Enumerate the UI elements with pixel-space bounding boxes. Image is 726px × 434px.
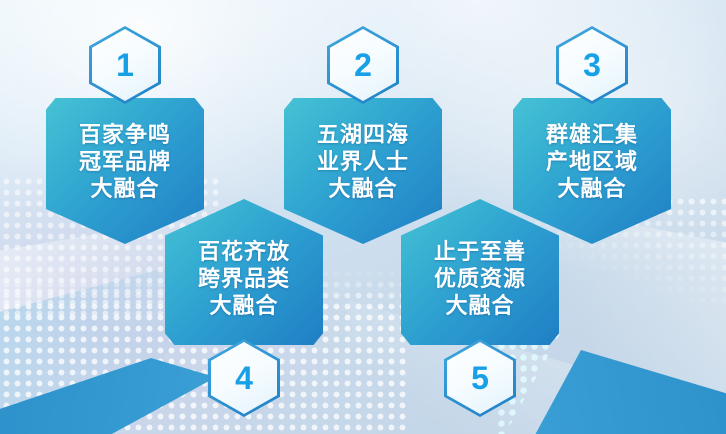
infographic-canvas: 百家争鸣 冠军品牌 大融合 1 五湖四海 业界人士 大融合 2 群雄汇集 产地区… [0, 0, 726, 434]
hex-badge-2[interactable]: 2 [327, 26, 399, 104]
hex-node-1[interactable]: 百家争鸣 冠军品牌 大融合 1 [46, 14, 204, 210]
hex-badge-3-number: 3 [583, 49, 601, 81]
hex-badge-1-number: 1 [116, 49, 134, 81]
hex-badge-4-number: 4 [235, 362, 253, 394]
hex-badge-4[interactable]: 4 [208, 339, 280, 417]
hex-node-4[interactable]: 百花齐放 跨界品类 大融合 4 [165, 199, 323, 395]
hex-node-3[interactable]: 群雄汇集 产地区域 大融合 3 [513, 14, 671, 210]
hex-badge-5[interactable]: 5 [444, 339, 516, 417]
hex-badge-3[interactable]: 3 [556, 26, 628, 104]
hex-badge-5-number: 5 [471, 362, 489, 394]
hex-badge-1[interactable]: 1 [89, 26, 161, 104]
hex-body-5 [401, 199, 559, 345]
hex-badge-2-number: 2 [354, 49, 372, 81]
hex-node-5[interactable]: 止于至善 优质资源 大融合 5 [401, 199, 559, 395]
hex-body-4 [165, 199, 323, 345]
hex-node-2[interactable]: 五湖四海 业界人士 大融合 2 [284, 14, 442, 210]
